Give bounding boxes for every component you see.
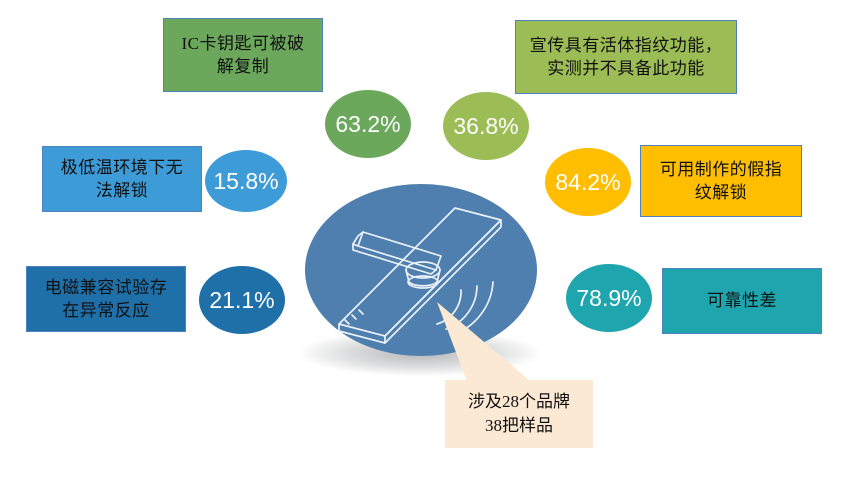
label-box-emc-abnormal[interactable]: 电磁兼容试验存 在异常反应 (26, 266, 186, 332)
label-box-ic-card-key[interactable]: IC卡钥匙可被破 解复制 (163, 18, 323, 92)
callout-line-1: 涉及28个品牌 (468, 390, 570, 414)
label-fake-fingerprint-line1: 可用制作的假指 (660, 158, 783, 181)
label-box-low-temperature[interactable]: 极低温环境下无 法解锁 (42, 146, 202, 212)
percent-value-emc-abnormal: 21.1% (209, 287, 274, 314)
label-box-live-fingerprint[interactable]: 宣传具有活体指纹功能， 实测并不具备此功能 (515, 20, 737, 94)
percent-bubble-ic-card-key[interactable]: 63.2% (325, 90, 411, 158)
percent-bubble-poor-reliability[interactable]: 78.9% (566, 264, 652, 332)
label-emc-abnormal-line2: 在异常反应 (45, 299, 168, 322)
percent-value-ic-card-key: 63.2% (335, 111, 400, 138)
label-box-fake-fingerprint[interactable]: 可用制作的假指 纹解锁 (640, 145, 802, 217)
label-fake-fingerprint-line2: 纹解锁 (660, 181, 783, 204)
percent-bubble-fake-fingerprint[interactable]: 84.2% (545, 148, 631, 216)
callout-line-2: 38把样品 (468, 414, 570, 438)
callout-sample-note: 涉及28个品牌 38把样品 (445, 380, 593, 448)
infographic-canvas: 涉及28个品牌 38把样品 IC卡钥匙可被破 解复制 63.2% 宣传具有活体指… (0, 0, 853, 479)
label-box-poor-reliability[interactable]: 可靠性差 (662, 268, 822, 334)
label-low-temperature-line2: 法解锁 (61, 179, 184, 202)
percent-bubble-emc-abnormal[interactable]: 21.1% (199, 266, 285, 334)
label-live-fingerprint-line1: 宣传具有活体指纹功能， (530, 34, 723, 57)
label-emc-abnormal-line1: 电磁兼容试验存 (45, 276, 168, 299)
percent-value-fake-fingerprint: 84.2% (555, 169, 620, 196)
label-ic-card-key-line2: 解复制 (182, 55, 305, 78)
percent-bubble-live-fingerprint[interactable]: 36.8% (443, 92, 529, 160)
label-poor-reliability-line1: 可靠性差 (707, 289, 777, 312)
percent-value-low-temperature: 15.8% (213, 168, 278, 195)
label-ic-card-key-line1: IC卡钥匙可被破 (182, 32, 305, 55)
percent-value-live-fingerprint: 36.8% (453, 113, 518, 140)
percent-bubble-low-temperature[interactable]: 15.8% (205, 150, 287, 212)
label-live-fingerprint-line2: 实测并不具备此功能 (530, 57, 723, 80)
percent-value-poor-reliability: 78.9% (576, 285, 641, 312)
label-low-temperature-line1: 极低温环境下无 (61, 156, 184, 179)
